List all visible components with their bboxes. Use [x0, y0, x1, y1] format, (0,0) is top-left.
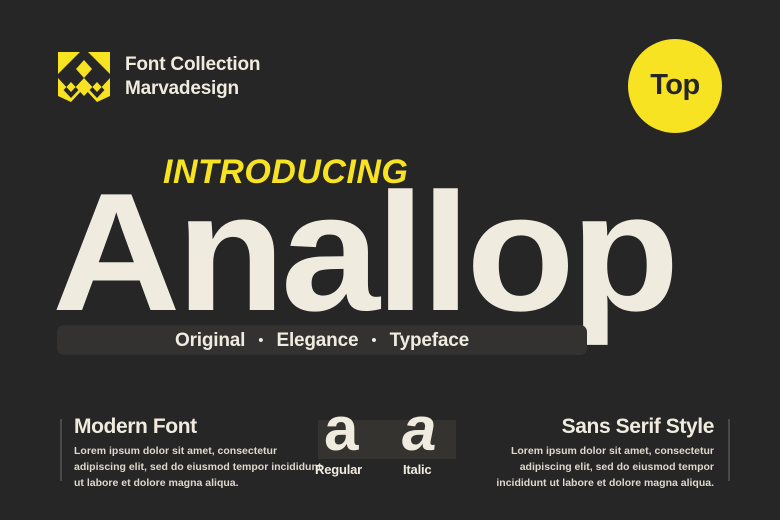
- poster-footer: Modern Font Lorem ipsum dolor sit amet, …: [0, 405, 780, 520]
- top-badge-label: Top: [650, 71, 700, 100]
- feature-item-elegance: Elegance: [276, 331, 358, 350]
- feature-separator-dot: •: [371, 333, 376, 348]
- glyph-label-regular: Regular: [315, 463, 362, 476]
- eyebrow-introducing: INTRODUCING: [163, 155, 408, 189]
- feature-list: Original • Elegance • Typeface: [175, 331, 469, 350]
- footer-column-right: Sans Serif Style Lorem ipsum dolor sit a…: [468, 415, 714, 491]
- glyph-label-italic: Italic: [403, 463, 431, 476]
- feature-item-original: Original: [175, 331, 245, 350]
- brand-block: Font Collection Marvadesign: [58, 52, 260, 102]
- footer-column-left: Modern Font Lorem ipsum dolor sit amet, …: [74, 415, 324, 491]
- footer-left-title: Modern Font: [74, 415, 324, 438]
- brand-line-secondary: Marvadesign: [125, 78, 260, 100]
- feature-bar: Original • Elegance • Typeface: [57, 325, 587, 355]
- brand-text: Font Collection Marvadesign: [125, 54, 260, 100]
- brand-line-primary: Font Collection: [125, 54, 260, 76]
- poster-header: Font Collection Marvadesign Top: [0, 0, 780, 145]
- footer-left-body: Lorem ipsum dolor sit amet, consectetur …: [74, 444, 324, 491]
- footer-right-title: Sans Serif Style: [468, 415, 714, 438]
- footer-right-body: Lorem ipsum dolor sit amet, consectetur …: [468, 444, 714, 491]
- glyph-sample-regular: a: [324, 399, 358, 461]
- feature-separator-dot: •: [258, 333, 263, 348]
- top-badge: Top: [628, 39, 722, 133]
- font-promo-poster: Font Collection Marvadesign Top Anallop …: [0, 0, 780, 520]
- glyph-sample-italic: a: [402, 399, 436, 461]
- divider-right: [728, 419, 730, 481]
- headline-font-name: Anallop: [52, 168, 780, 336]
- divider-left: [60, 419, 62, 481]
- chevron-zigzag-logo-icon: [58, 52, 110, 102]
- feature-item-typeface: Typeface: [390, 331, 469, 350]
- hero-section: Anallop INTRODUCING Original • Elegance …: [0, 140, 780, 375]
